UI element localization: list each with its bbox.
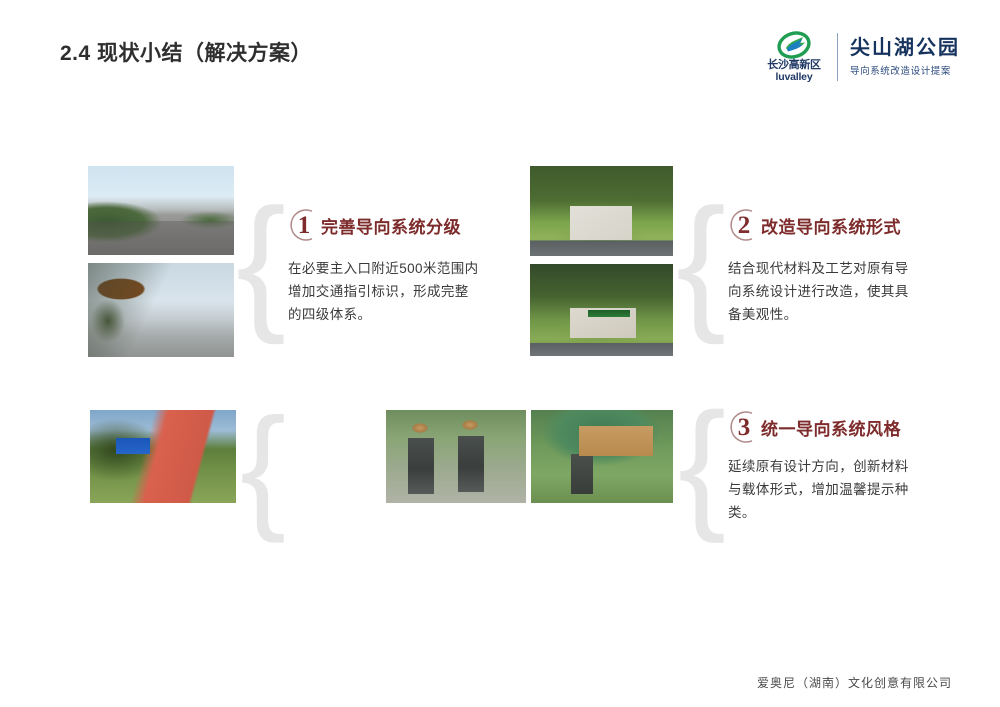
photo-concrete-base-green-panel xyxy=(530,264,673,356)
brace-item-2: { xyxy=(676,186,726,336)
photo-red-trail-blue-sign xyxy=(90,410,236,503)
photo-wooden-tip-sign xyxy=(531,410,673,503)
brace-item-3-left: { xyxy=(240,398,286,536)
item-3-title: 统一导向系统风格 xyxy=(761,415,901,440)
photo-concrete-base-plain xyxy=(530,166,673,256)
photo-stone-pillar-pair xyxy=(386,410,526,503)
item-1-heading: 1 完善导向系统分级 xyxy=(286,208,461,242)
footer-company: 爱奥尼（湖南）文化创意有限公司 xyxy=(757,674,952,691)
brand-district-cn: 长沙高新区 xyxy=(767,60,821,72)
page-title: 2.4 现状小结（解决方案） xyxy=(60,37,312,67)
item-3-heading: 3 统一导向系统风格 xyxy=(726,410,901,444)
brand-district: 长沙高新区 luvalley xyxy=(761,31,827,83)
item-2-number: 2 xyxy=(738,213,751,238)
item-1-title: 完善导向系统分级 xyxy=(321,213,461,238)
photo-brown-guide-sign xyxy=(88,263,234,357)
brand-logo-block: 长沙高新区 luvalley 尖山湖公园 导向系统改造设计提案 xyxy=(761,28,960,86)
photo-empty-road-plaza xyxy=(88,166,234,255)
item-2-body: 结合现代材料及工艺对原有导向系统设计进行改造，使其具备美观性。 xyxy=(728,257,922,327)
brace-item-3-right: { xyxy=(678,392,726,536)
brand-district-en: luvalley xyxy=(776,72,813,84)
item-1-number: 1 xyxy=(298,213,311,238)
item-2-heading: 2 改造导向系统形式 xyxy=(726,208,901,242)
brand-park: 尖山湖公园 导向系统改造设计提案 xyxy=(850,37,960,77)
brace-item-1: { xyxy=(236,186,286,336)
item-1-body: 在必要主入口附近500米范围内增加交通指引标识，形成完整的四级体系。 xyxy=(288,257,482,327)
item-2-title: 改造导向系统形式 xyxy=(761,213,901,238)
luvalley-swoosh-icon xyxy=(777,31,811,59)
item-3-number-badge: 3 xyxy=(726,410,760,444)
item-1-number-badge: 1 xyxy=(286,208,320,242)
item-2-number-badge: 2 xyxy=(726,208,760,242)
item-3-number: 3 xyxy=(738,415,751,440)
brand-park-subtitle: 导向系统改造设计提案 xyxy=(850,63,960,77)
brand-divider xyxy=(837,33,838,81)
item-3-body: 延续原有设计方向，创新材料与载体形式，增加温馨提示种类。 xyxy=(728,455,922,525)
brand-park-name: 尖山湖公园 xyxy=(850,37,960,60)
